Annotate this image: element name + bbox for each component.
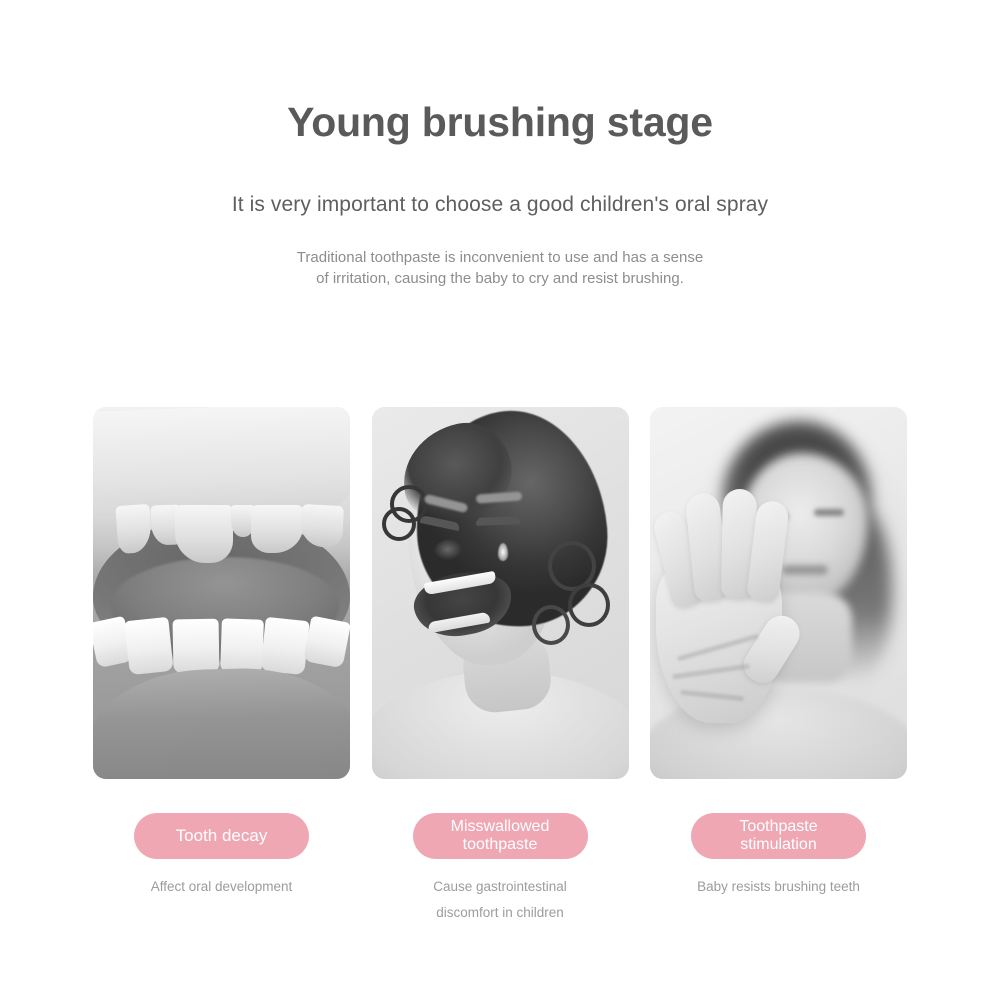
crying-child-photo [372, 407, 629, 779]
tooth-decay-photo [93, 407, 350, 779]
mouth-shape [782, 565, 828, 575]
lower-tooth [260, 617, 309, 675]
badge-misswallowed-toothpaste[interactable]: Misswallowed toothpaste [413, 813, 588, 859]
image-card-stop-gesture [650, 407, 907, 779]
product-infographic-page: Young brushing stage It is very importan… [0, 0, 1000, 1000]
caption-tooth-decay: Affect oral development [93, 874, 350, 900]
image-card-tooth-decay [93, 407, 350, 779]
tear-drop [498, 543, 508, 561]
child-stop-gesture-photo [650, 407, 907, 779]
decayed-tooth [175, 505, 233, 563]
image-card-crying-child [372, 407, 629, 779]
eye-right [814, 509, 844, 516]
caption-col-2: Cause gastrointestinal discomfort in chi… [372, 874, 629, 927]
nose-shape [434, 539, 468, 565]
caption-misswallowed-toothpaste: Cause gastrointestinal discomfort in chi… [372, 874, 629, 927]
upper-teeth-group [93, 505, 350, 573]
caption-toothpaste-stimulation: Baby resists brushing teeth [650, 874, 907, 900]
page-title: Young brushing stage [0, 0, 1000, 145]
image-card-row [93, 407, 907, 779]
caption-col-1: Affect oral development [93, 874, 350, 927]
caption-col-3: Baby resists brushing teeth [650, 874, 907, 927]
header-block: Young brushing stage It is very importan… [0, 0, 1000, 290]
lead-line-2: of irritation, causing the baby to cry a… [0, 268, 1000, 289]
lower-tooth [124, 617, 173, 675]
decayed-tooth [300, 504, 344, 548]
lower-tooth [173, 619, 220, 674]
lead-line-1: Traditional toothpaste is inconvenient t… [0, 247, 1000, 268]
page-subtitle: It is very important to choose a good ch… [0, 145, 1000, 217]
lead-paragraph: Traditional toothpaste is inconvenient t… [0, 217, 1000, 290]
hair-curl [382, 507, 416, 541]
caption-row: Affect oral development Cause gastrointe… [93, 874, 907, 927]
badge-col-3: Toothpaste stimulation [650, 813, 907, 859]
lower-tooth [303, 616, 350, 669]
hair-curl [532, 605, 570, 645]
decayed-tooth [251, 505, 303, 553]
badge-col-1: Tooth decay [93, 813, 350, 859]
lower-tooth [220, 618, 264, 673]
badge-toothpaste-stimulation[interactable]: Toothpaste stimulation [691, 813, 866, 859]
badge-tooth-decay[interactable]: Tooth decay [134, 813, 309, 859]
eye-right-closed [475, 516, 519, 526]
decayed-tooth [115, 504, 152, 554]
badge-row: Tooth decay Misswallowed toothpaste Toot… [93, 813, 907, 859]
badge-col-2: Misswallowed toothpaste [372, 813, 629, 859]
hair-curl [568, 583, 610, 627]
